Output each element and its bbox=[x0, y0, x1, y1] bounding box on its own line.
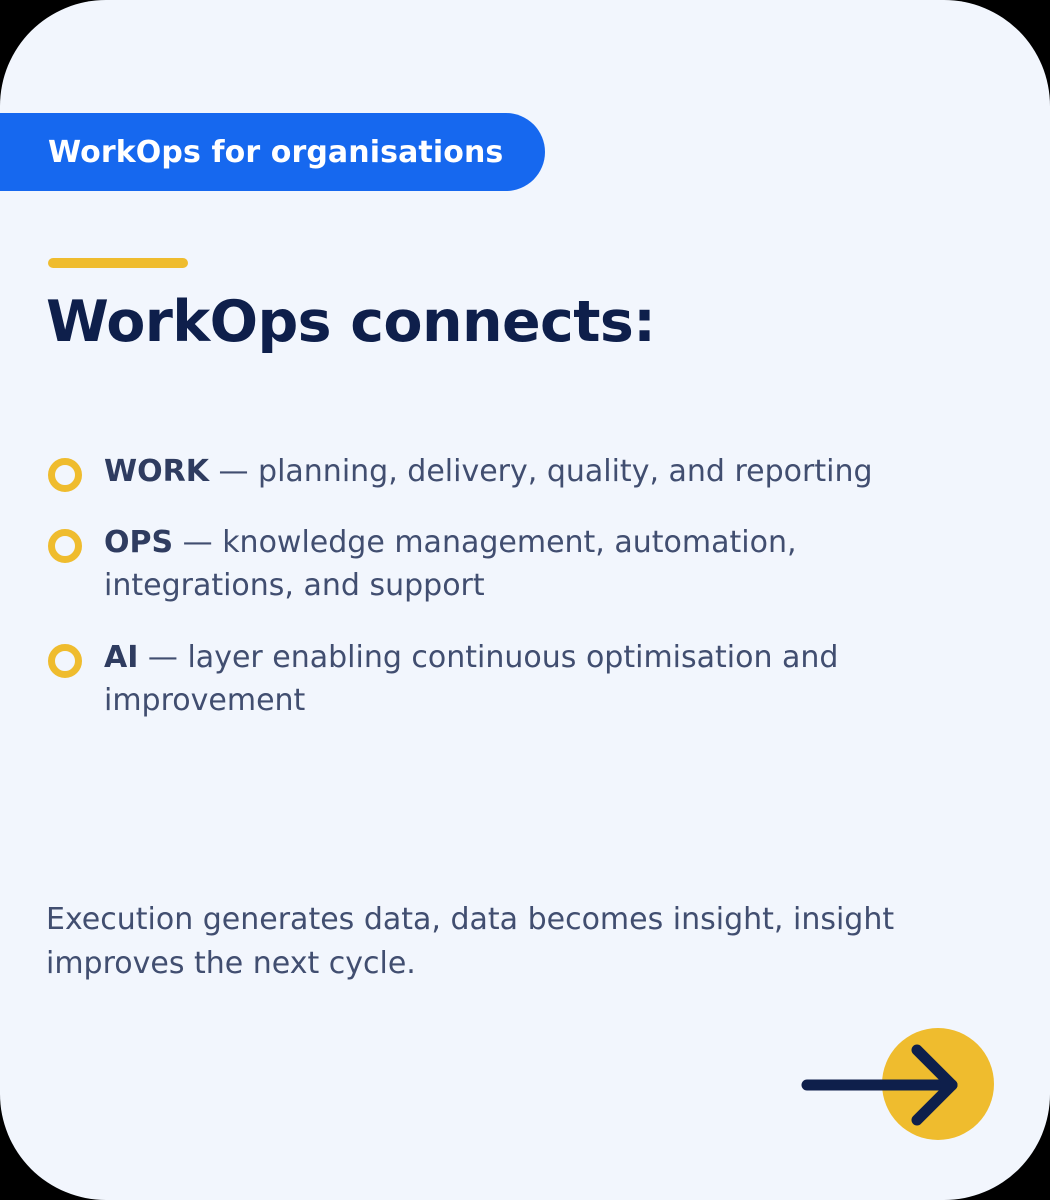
list-item-text: WORK — planning, delivery, quality, and … bbox=[104, 450, 978, 493]
category-badge: WorkOps for organisations bbox=[0, 113, 545, 191]
closing-paragraph: Execution generates data, data becomes i… bbox=[46, 898, 966, 986]
list-item-text: OPS — knowledge management, automation, … bbox=[104, 521, 978, 607]
next-button[interactable] bbox=[800, 1028, 994, 1142]
info-card: WorkOps for organisations WorkOps connec… bbox=[0, 0, 1050, 1200]
category-badge-label: WorkOps for organisations bbox=[48, 135, 503, 170]
list-item-separator: — bbox=[138, 640, 187, 675]
bullet-list: WORK — planning, delivery, quality, and … bbox=[48, 450, 978, 750]
list-item-text: AI — layer enabling continuous optimisat… bbox=[104, 636, 978, 722]
list-item: WORK — planning, delivery, quality, and … bbox=[48, 450, 978, 493]
list-item: AI — layer enabling continuous optimisat… bbox=[48, 636, 978, 722]
list-item-term: AI bbox=[104, 640, 138, 675]
list-item-description: layer enabling continuous optimisation a… bbox=[104, 640, 838, 718]
accent-bar bbox=[48, 258, 188, 268]
list-item-term: WORK bbox=[104, 454, 209, 489]
list-item: OPS — knowledge management, automation, … bbox=[48, 521, 978, 607]
ring-icon bbox=[48, 529, 82, 563]
arrow-right-icon bbox=[800, 1028, 994, 1142]
ring-icon bbox=[48, 458, 82, 492]
list-item-separator: — bbox=[209, 454, 258, 489]
list-item-term: OPS bbox=[104, 525, 173, 560]
list-item-separator: — bbox=[173, 525, 222, 560]
page-title: WorkOps connects: bbox=[46, 290, 655, 356]
list-item-description: planning, delivery, quality, and reporti… bbox=[258, 454, 873, 489]
ring-icon bbox=[48, 644, 82, 678]
